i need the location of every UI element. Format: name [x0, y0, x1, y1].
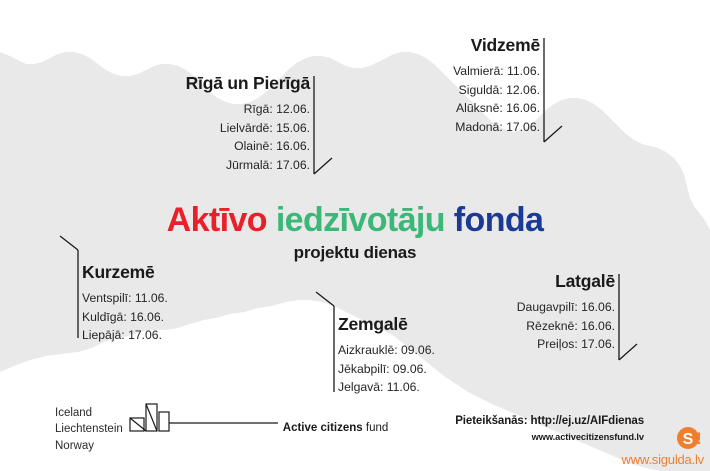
region-events-kurzeme: Ventspilī: 11.06. Kuldīgā: 16.06. Liepāj…: [82, 289, 232, 345]
region-event: Jēkabpilī: 09.06.: [338, 360, 498, 379]
region-events-riga: Rīgā: 12.06. Lielvārdē: 15.06. Olainē: 1…: [150, 100, 310, 174]
region-event: Preiļos: 17.06.: [470, 335, 615, 354]
region-event: Lielvārdē: 15.06.: [150, 119, 310, 138]
title-word-aktivo: Aktīvo: [167, 201, 267, 239]
region-event: Liepājā: 17.06.: [82, 326, 232, 345]
acf-country-liechtenstein: Liechtenstein: [55, 421, 123, 437]
title-word-iedzivotaju: iedzīvotāju: [276, 201, 445, 239]
acf-website-link[interactable]: www.activecitizensfund.lv: [532, 432, 644, 442]
region-event: Jelgavā: 11.06.: [338, 378, 498, 397]
region-block-vidzeme: Vidzemē Valmierā: 11.06. Siguldā: 12.06.…: [400, 36, 540, 136]
acf-country-iceland: Iceland: [55, 405, 123, 421]
region-event: Olainē: 16.06.: [150, 137, 310, 156]
apply-link-text[interactable]: Pieteikšanās: http://ej.uz/AIFdienas: [455, 415, 644, 427]
region-event: Ventspilī: 11.06.: [82, 289, 232, 308]
region-events-vidzeme: Valmierā: 11.06. Siguldā: 12.06. Alūksnē…: [400, 62, 540, 136]
sigulda-logo-icon: S !: [676, 424, 704, 452]
page-subtitle: projektu dienas: [0, 243, 710, 263]
region-event: Daugavpilī: 16.06.: [470, 298, 615, 317]
region-event: Madonā: 17.06.: [400, 118, 540, 137]
region-event: Kuldīgā: 16.06.: [82, 308, 232, 327]
region-block-kurzeme: Kurzemē Ventspilī: 11.06. Kuldīgā: 16.06…: [82, 263, 232, 345]
region-event: Rīgā: 12.06.: [150, 100, 310, 119]
region-event: Alūksnē: 16.06.: [400, 99, 540, 118]
svg-text:!: !: [696, 429, 702, 448]
poster-canvas: Rīgā un Pierīgā Rīgā: 12.06. Lielvārdē: …: [0, 0, 710, 471]
region-event: Siguldā: 12.06.: [400, 81, 540, 100]
acf-country-norway: Norway: [55, 438, 123, 454]
active-citizens-fund-logo: Iceland Liechtenstein Norway Active citi…: [55, 396, 388, 454]
region-block-latgale: Latgalē Daugavpilī: 16.06. Rēzeknē: 16.0…: [470, 272, 615, 354]
sigulda-website-link[interactable]: www.sigulda.lv: [622, 452, 704, 467]
page-title: Aktīvo iedzīvotāju fonda: [0, 203, 710, 237]
acf-wordmark-bold: Active citizens: [283, 422, 363, 434]
region-event: Rēzeknē: 16.06.: [470, 317, 615, 336]
eea-grants-mark-icon: [128, 396, 280, 442]
region-title-kurzeme: Kurzemē: [82, 263, 232, 282]
region-title-latgale: Latgalē: [470, 272, 615, 291]
region-title-vidzeme: Vidzemē: [400, 36, 540, 55]
title-word-fonda: fonda: [454, 201, 544, 239]
region-event: Jūrmalā: 17.06.: [150, 156, 310, 175]
acf-wordmark: Active citizens fund: [283, 396, 388, 436]
region-events-latgale: Daugavpilī: 16.06. Rēzeknē: 16.06. Preiļ…: [470, 298, 615, 354]
acf-donor-countries: Iceland Liechtenstein Norway: [55, 396, 123, 454]
acf-wordmark-light: fund: [363, 422, 389, 434]
region-block-riga: Rīgā un Pierīgā Rīgā: 12.06. Lielvārdē: …: [150, 74, 310, 174]
region-event: Valmierā: 11.06.: [400, 62, 540, 81]
svg-text:S: S: [683, 431, 694, 448]
region-title-riga: Rīgā un Pierīgā: [150, 74, 310, 93]
